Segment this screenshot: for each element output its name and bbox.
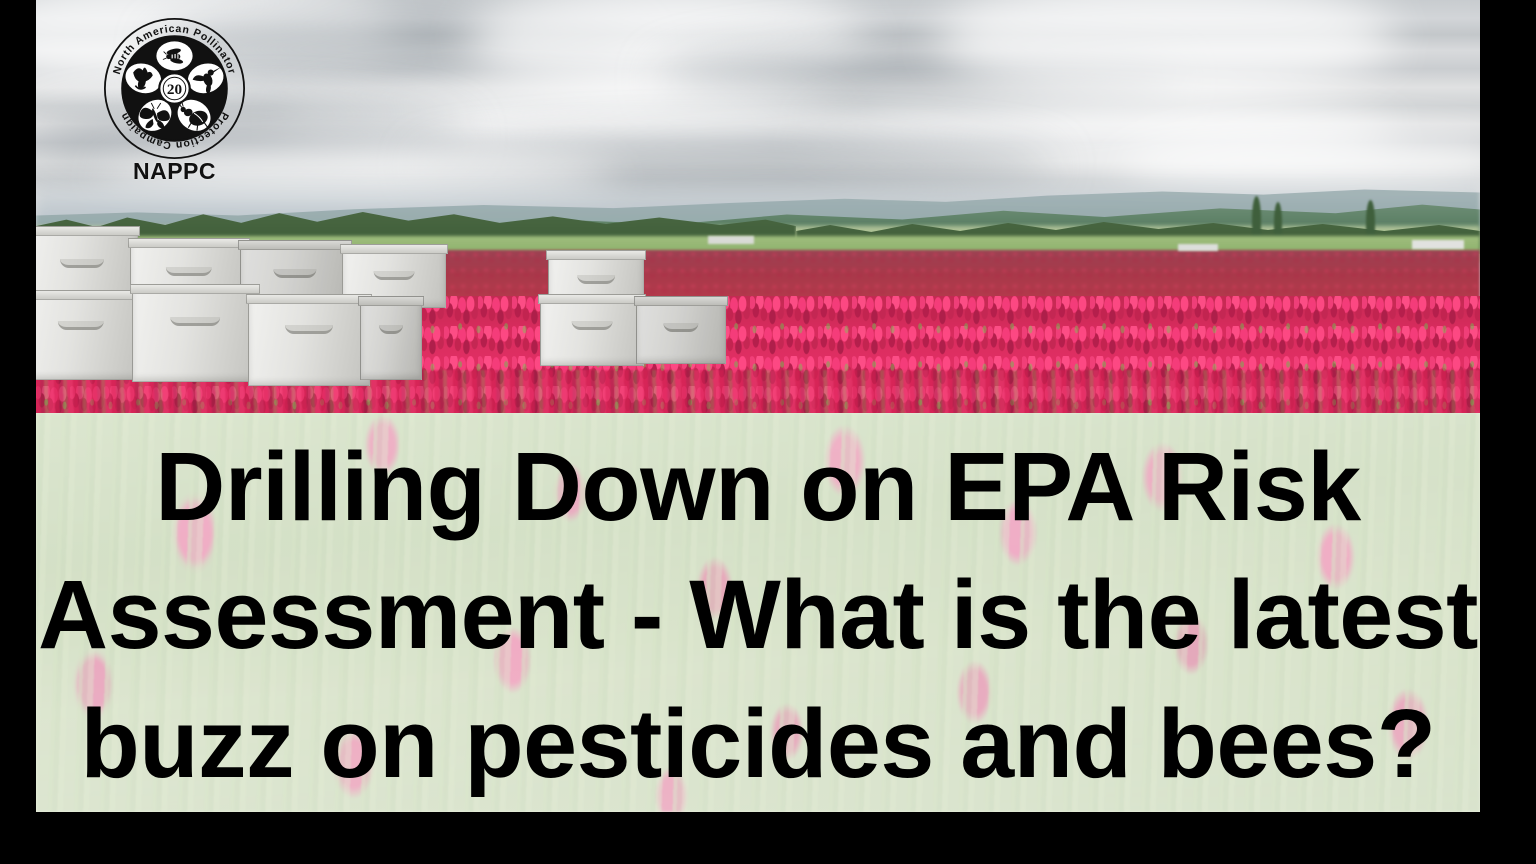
hive-lid: [130, 284, 260, 294]
hive-handle: [58, 321, 104, 330]
hive-handle: [285, 325, 333, 334]
hive-lid: [246, 294, 372, 304]
hive-lid: [36, 226, 140, 236]
beehive-box: [540, 300, 644, 366]
hive-lid: [128, 238, 250, 248]
title-line-2: Assessment - What is the latest: [38, 551, 1478, 679]
title-line-1: Drilling Down on EPA Risk: [155, 423, 1360, 551]
hive-lid: [238, 240, 352, 250]
beehive-box: [360, 302, 422, 380]
title-line-3: buzz on pesticides and bees?: [80, 680, 1435, 808]
hive-lid: [36, 290, 142, 300]
nappc-wordmark: NAPPC: [102, 158, 247, 185]
hive-handle: [273, 269, 316, 278]
beehive-box: [636, 302, 726, 364]
beehive-box: [132, 290, 258, 382]
hive-lid: [538, 294, 646, 304]
hive-lid: [340, 244, 448, 254]
hive-lid: [634, 296, 728, 306]
presentation-slide: Drilling Down on EPA Risk Assessment - W…: [0, 0, 1536, 864]
hive-handle: [170, 317, 220, 326]
nappc-seal-icon: 20 North American Pollinator Protection …: [102, 16, 247, 161]
hive-handle: [166, 267, 212, 276]
logo-anniversary-number: 20: [167, 81, 183, 98]
slide-background-photo: Drilling Down on EPA Risk Assessment - W…: [36, 0, 1480, 812]
hive-lid: [358, 296, 424, 306]
hive-handle: [60, 259, 104, 268]
beehive-box: [36, 296, 140, 380]
hive-handle: [577, 275, 615, 284]
hive-handle: [572, 321, 613, 330]
farm-building: [708, 236, 754, 244]
farm-building: [1412, 240, 1464, 249]
beehive-box: [248, 300, 370, 386]
slide-title: Drilling Down on EPA Risk Assessment - W…: [36, 413, 1480, 812]
hive-handle: [374, 271, 415, 280]
hive-handle: [379, 325, 403, 334]
farm-building: [1178, 244, 1218, 251]
nappc-logo: 20 North American Pollinator Protection …: [102, 16, 254, 184]
hive-handle: [663, 323, 698, 332]
hive-lid: [546, 250, 646, 260]
